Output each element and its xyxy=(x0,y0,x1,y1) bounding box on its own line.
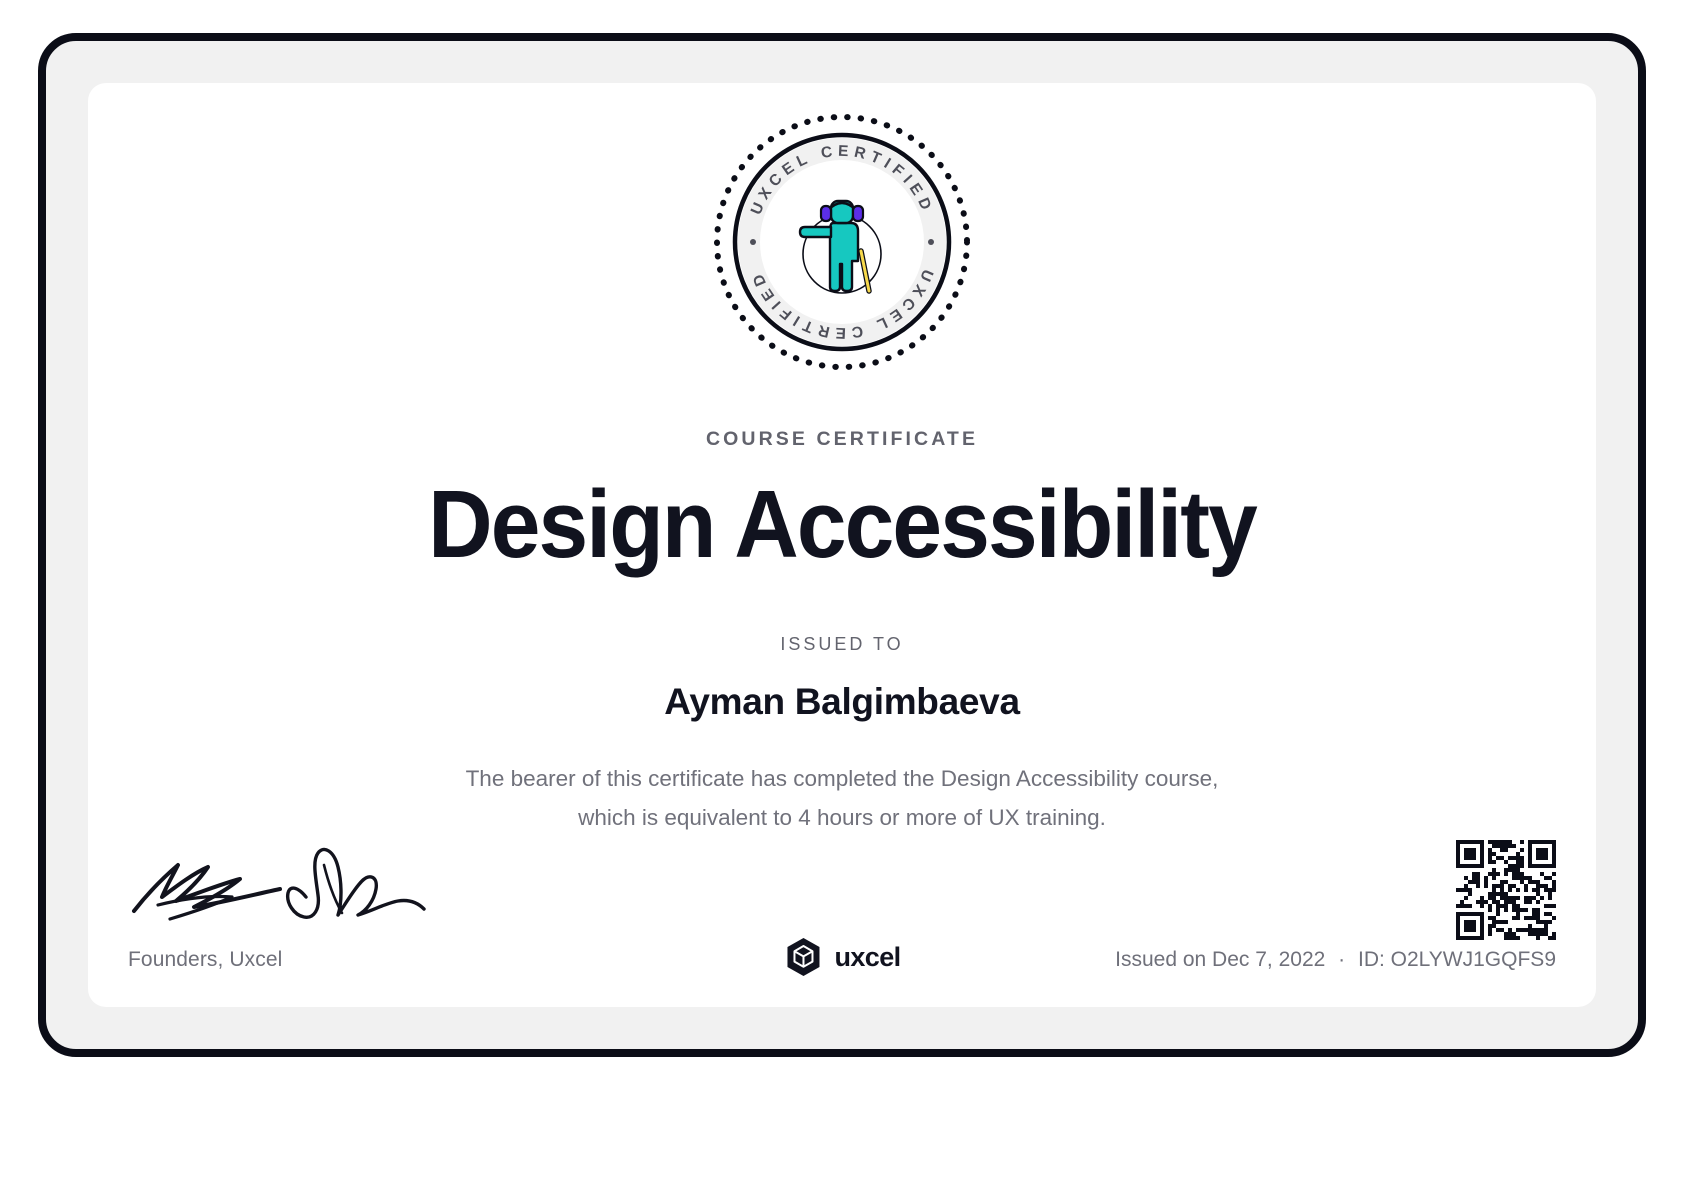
course-title: Design Accessibility xyxy=(141,475,1543,576)
recipient-name: Ayman Balgimbaeva xyxy=(88,681,1596,723)
meta-separator: · xyxy=(1331,948,1352,971)
badge-bullet-right xyxy=(928,239,934,245)
certificate-frame: UXCEL CERTIFIED UXCEL CERTIFIED xyxy=(38,33,1646,1057)
issue-metadata: Issued on Dec 7, 2022 · ID: O2LYWJ1GQFS9 xyxy=(1115,948,1556,972)
issued-on-date: Issued on Dec 7, 2022 xyxy=(1115,948,1325,971)
description-line-1: The bearer of this certificate has compl… xyxy=(466,766,1219,791)
uxcel-logo: uxcel xyxy=(783,937,900,977)
signature-icon-right xyxy=(288,849,424,917)
description-line-2: which is equivalent to 4 hours or more o… xyxy=(578,805,1106,830)
qr-code-icon[interactable] xyxy=(1456,840,1556,940)
certificate-card: UXCEL CERTIFIED UXCEL CERTIFIED xyxy=(88,83,1596,1007)
badge-bullet-left xyxy=(750,239,756,245)
issued-to-label: ISSUED TO xyxy=(88,634,1596,655)
certificate-id: ID: O2LYWJ1GQFS9 xyxy=(1358,948,1556,971)
uxcel-wordmark: uxcel xyxy=(834,942,900,973)
signature-icon xyxy=(134,865,280,911)
uxcel-hexagon-cube-icon xyxy=(783,937,823,977)
signature-caption: Founders, Uxcel xyxy=(128,948,282,972)
certificate-eyebrow: COURSE CERTIFICATE xyxy=(88,428,1596,451)
founder-signatures xyxy=(128,831,428,923)
uxcel-certified-badge: UXCEL CERTIFIED UXCEL CERTIFIED xyxy=(711,111,973,373)
certificate-description: The bearer of this certificate has compl… xyxy=(412,760,1272,837)
